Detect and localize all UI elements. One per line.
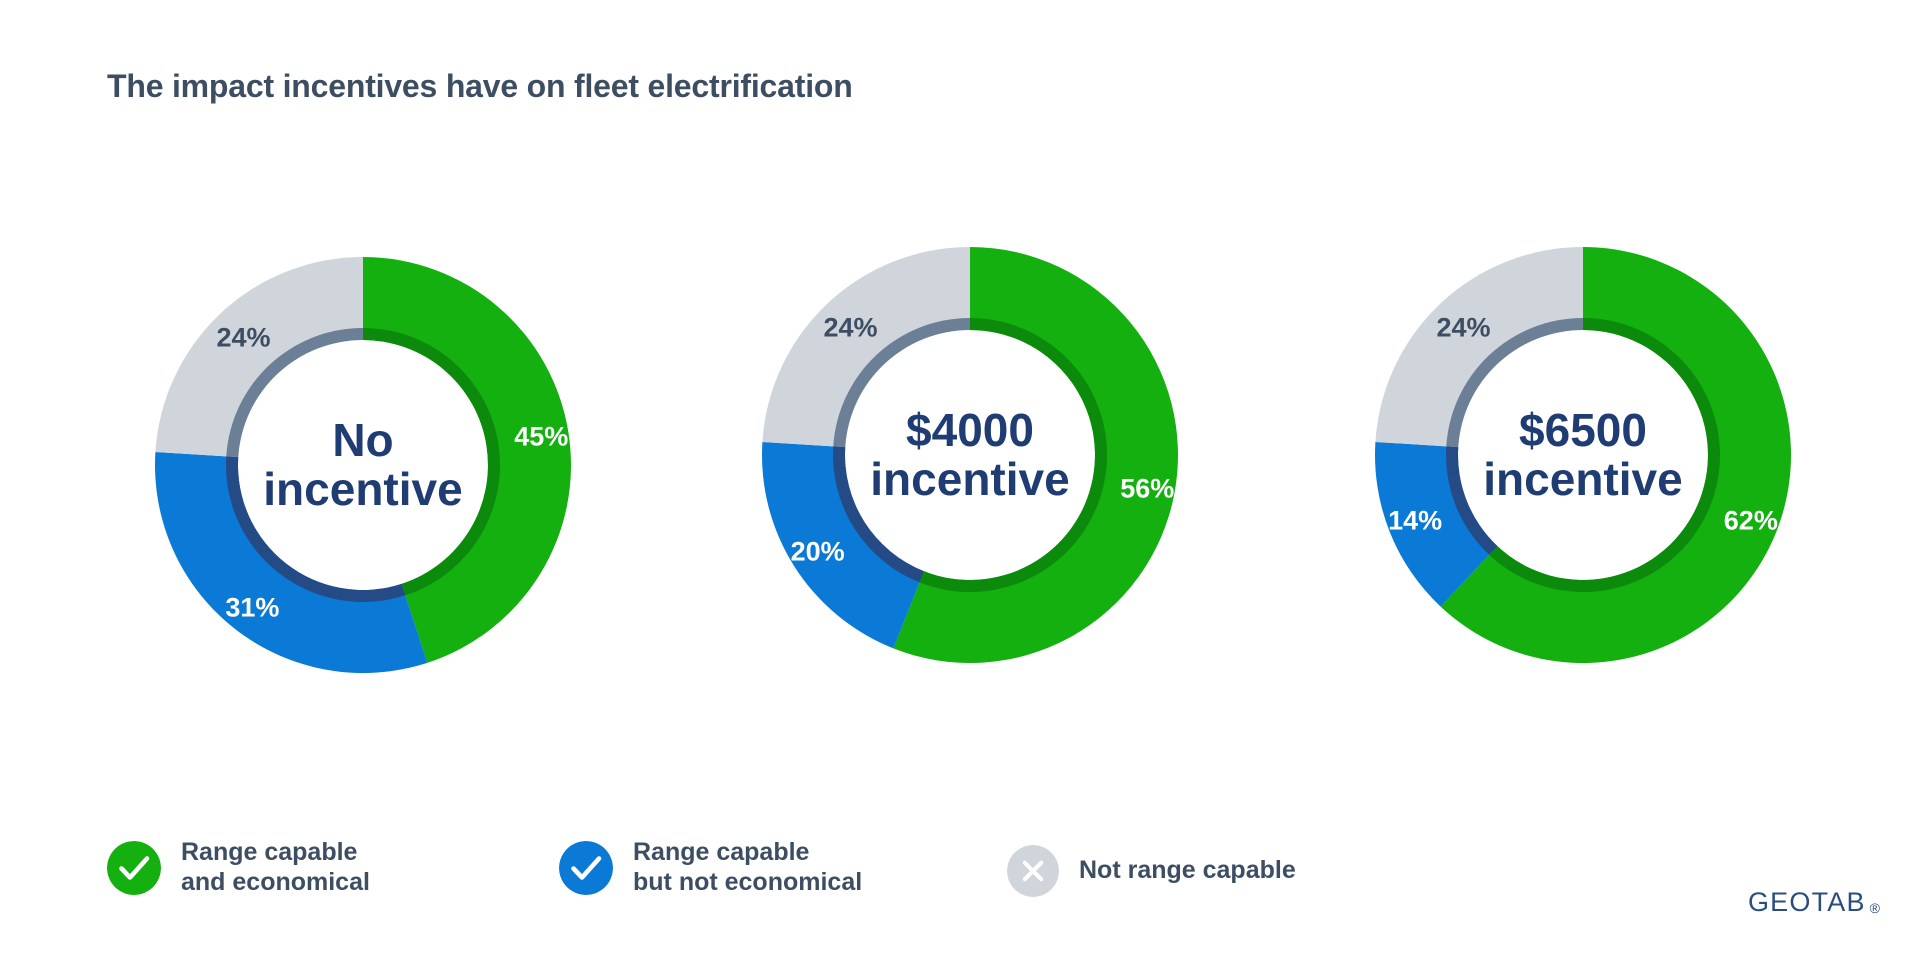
page-title: The impact incentives have on fleet elec…	[107, 68, 853, 105]
donut-chart-4000-incentive: $4000 incentive 56% 20% 24%	[705, 190, 1235, 720]
legend-label-0: Range capable and economical	[181, 838, 370, 897]
donut-svg-2	[1318, 190, 1848, 720]
donut-charts-row: No incentive 45% 31% 24% $4000 incentive…	[0, 190, 1932, 750]
infographic-page: The impact incentives have on fleet elec…	[0, 0, 1932, 976]
donut-slice	[1375, 247, 1583, 447]
x-circle-grey-icon	[1007, 845, 1059, 897]
legend-item-range-capable-not-economical: Range capable but not economical	[559, 838, 862, 897]
legend-item-range-capable-economical: Range capable and economical	[107, 838, 370, 897]
legend-item-not-range-capable: Not range capable	[1007, 845, 1296, 897]
donut-slice	[155, 452, 427, 673]
legend-label-line-1: Range capable	[181, 838, 370, 868]
brand-registered-mark: ®	[1870, 901, 1880, 915]
donut-chart-6500-incentive: $6500 incentive 62% 14% 24%	[1318, 190, 1848, 720]
brand-wordmark: GEOTAB	[1748, 887, 1866, 918]
legend-label-line-1: Range capable	[633, 838, 862, 868]
legend-label-line-1: Not range capable	[1079, 856, 1296, 886]
legend-label-line-2: but not economical	[633, 868, 862, 898]
donut-chart-no-incentive: No incentive 45% 31% 24%	[98, 200, 628, 730]
legend-label-line-2: and economical	[181, 868, 370, 898]
donut-slice	[762, 247, 970, 447]
donut-slice	[155, 257, 363, 457]
chart-legend: Range capable and economical Range capab…	[107, 820, 1407, 910]
legend-label-1: Range capable but not economical	[633, 838, 862, 897]
legend-label-2: Not range capable	[1079, 856, 1296, 886]
donut-svg-1	[705, 190, 1235, 720]
check-circle-blue-icon	[559, 841, 613, 895]
donut-svg-0	[98, 200, 628, 730]
geotab-logo: GEOTAB ®	[1748, 887, 1880, 918]
check-circle-green-icon	[107, 841, 161, 895]
